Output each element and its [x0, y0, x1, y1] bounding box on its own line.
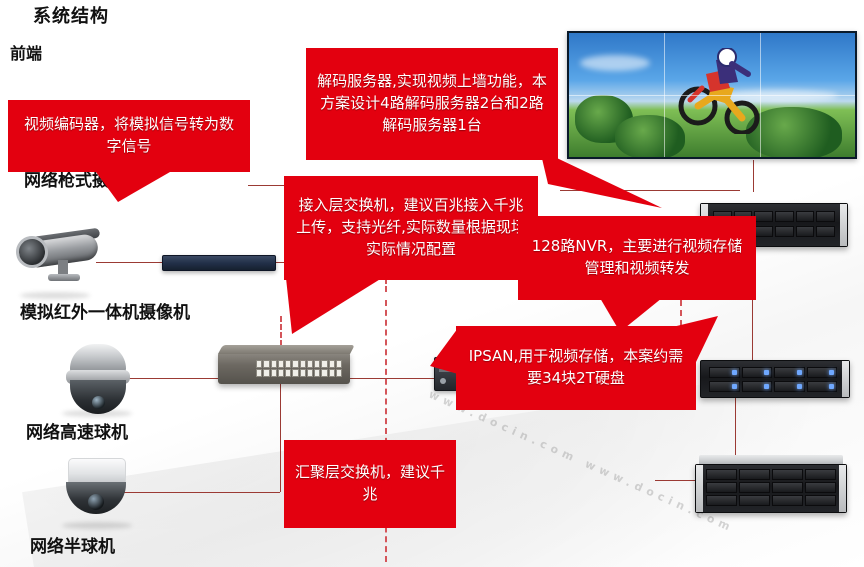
motocross-rider-image [672, 48, 764, 134]
video-wall-display [567, 31, 857, 159]
callout-video-encoder-tail [96, 172, 170, 202]
callout-decoder-server[interactable]: 解码服务器,实现视频上墙功能，本方案设计4路解码服务器2台和2路解码服务器1台 [306, 48, 558, 160]
link-videowall-to-nvr [753, 160, 754, 192]
callout-ipsan-text: IPSAN,用于视频存储，本案约需要34块2T硬盘 [466, 346, 686, 390]
callout-access-layer-switch-text: 接入层交换机，建议百兆接入千兆上传，支持光纤,实际数量根据现场实际情况配置 [294, 195, 528, 260]
video-wall-screen [569, 33, 855, 157]
video-encoder-device [162, 255, 276, 271]
label-network-mini-dome: 网络半球机 [30, 532, 115, 557]
callout-nvr[interactable]: 128路NVR，主要进行视频存储管理和视频转发 [518, 216, 756, 300]
callout-decoder-server-tail [540, 150, 670, 220]
section-label-frontend: 前端 [10, 40, 42, 64]
dashed-switch-uplink [280, 316, 282, 346]
callout-ipsan-tail-right [660, 316, 730, 366]
network-speed-dome-camera-icon [52, 340, 152, 422]
network-mini-dome-camera-icon [52, 452, 152, 532]
link-ipsan-callout-to-diskarray [655, 480, 695, 481]
callout-access-layer-switch-tail [286, 278, 406, 338]
page-title: 系统结构 [33, 2, 109, 28]
callout-decoder-server-text: 解码服务器,实现视频上墙功能，本方案设计4路解码服务器2台和2路解码服务器1台 [316, 71, 548, 136]
callout-aggregation-layer-switch-text: 汇聚层交换机，建议千兆 [294, 462, 446, 506]
cloud-shape [580, 55, 650, 71]
diagram-canvas: www.docin.com www.docin.com 系统结构 前端 [0, 0, 864, 567]
callout-aggregation-layer-switch[interactable]: 汇聚层交换机，建议千兆 [284, 440, 456, 528]
callout-ipsan-tail-left [430, 322, 490, 382]
callout-video-encoder[interactable]: 视频编码器，将模拟信号转为数字信号 [8, 100, 250, 172]
label-network-speed-dome: 网络高速球机 [26, 418, 128, 443]
link-switch-to-agg [280, 380, 281, 492]
callout-nvr-text: 128路NVR，主要进行视频存储管理和视频转发 [528, 236, 746, 280]
access-switch-24port [218, 352, 350, 384]
label-analog-ir-camera: 模拟红外一体机摄像机 [20, 298, 190, 323]
analog-ir-bullet-camera-icon [10, 222, 110, 302]
callout-access-layer-switch[interactable]: 接入层交换机，建议百兆接入千兆上传，支持光纤,实际数量根据现场实际情况配置 [284, 176, 538, 280]
link-storage-to-diskarray [735, 392, 736, 460]
callout-video-encoder-text: 视频编码器，将模拟信号转为数字信号 [18, 114, 240, 158]
disk-array-3u [695, 455, 847, 511]
